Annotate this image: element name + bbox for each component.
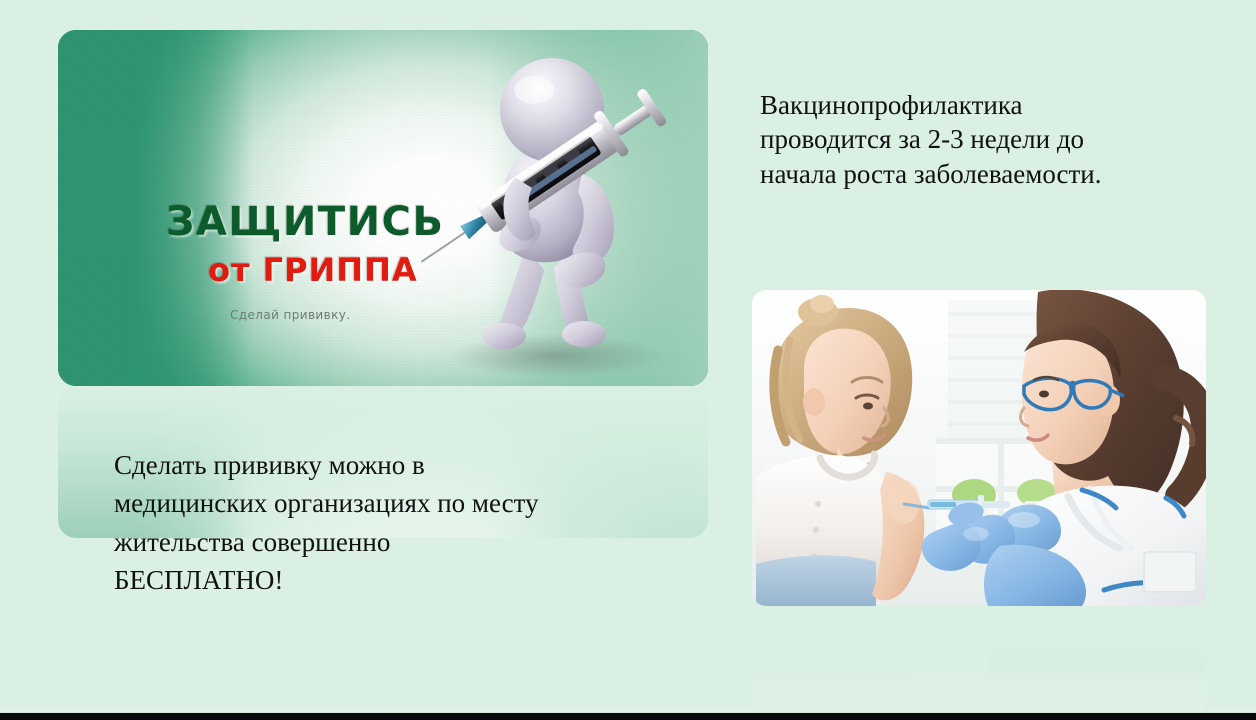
text-line: жительства совершенно	[114, 523, 674, 561]
photo-reflection-illustration	[752, 607, 1206, 717]
slide-canvas: ЗАЩИТИСЬ от ГРИППА Сделай прививку. Вакц…	[0, 0, 1256, 720]
poster-surface: ЗАЩИТИСЬ от ГРИППА Сделай прививку.	[58, 30, 708, 386]
bottom-bar	[0, 713, 1256, 720]
photo-frame	[752, 290, 1206, 606]
photo-illustration	[752, 290, 1206, 606]
poster-tagline: Сделай прививку.	[230, 308, 496, 322]
text-line: Вакцинопрофилактика	[760, 88, 1200, 122]
poster-headline-sub: от ГРИППА	[208, 254, 496, 286]
flu-poster-card[interactable]: ЗАЩИТИСЬ от ГРИППА Сделай прививку.	[58, 30, 708, 386]
text-line: проводится за 2-3 недели до	[760, 122, 1200, 156]
poster-headline-main: ЗАЩИТИСЬ	[166, 202, 496, 242]
text-line: медицинских организациях по месту	[114, 484, 674, 522]
vaccination-timing-text: Вакцинопрофилактика проводится за 2-3 не…	[760, 88, 1200, 191]
text-line: начала роста заболеваемости.	[760, 157, 1200, 191]
vaccination-photo[interactable]	[752, 290, 1206, 606]
text-line: БЕСПЛАТНО!	[114, 561, 674, 599]
photo-reflection-surface	[752, 607, 1206, 717]
photo-reflection	[752, 607, 1206, 717]
text-line: Сделать прививку можно в	[114, 446, 674, 484]
free-vaccination-text: Сделать прививку можно в медицинских орг…	[114, 446, 674, 599]
poster-text-block: ЗАЩИТИСЬ от ГРИППА Сделай прививку.	[166, 202, 496, 322]
